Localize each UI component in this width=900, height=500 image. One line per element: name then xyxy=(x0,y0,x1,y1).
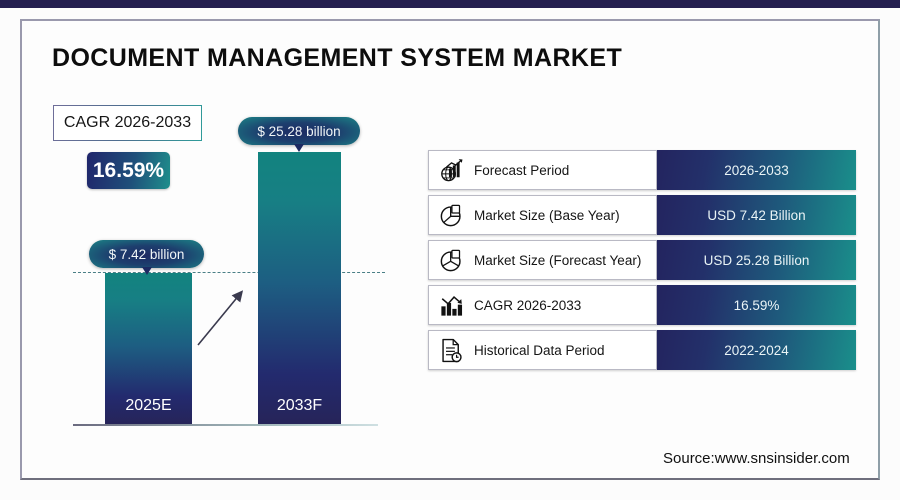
source-attribution: Source:www.snsinsider.com xyxy=(663,450,850,467)
table-row-value-cell: 2022-2024 xyxy=(657,330,856,370)
table-row-label-cell: Forecast Period xyxy=(428,150,657,190)
table-row-value-cell: USD 7.42 Billion xyxy=(657,195,856,235)
table-row[interactable]: Historical Data Period 2022-2024 xyxy=(428,330,856,370)
pill-pointer-icon xyxy=(294,144,304,152)
table-row-value-cell: 16.59% xyxy=(657,285,856,325)
pie-chart-icon xyxy=(438,247,465,274)
table-row[interactable]: Market Size (Forecast Year) USD 25.28 Bi… xyxy=(428,240,856,280)
table-row[interactable]: Market Size (Base Year) USD 7.42 Billion xyxy=(428,195,856,235)
document-clock-icon xyxy=(438,337,465,364)
table-row-value-cell: 2026-2033 xyxy=(657,150,856,190)
table-row-label: Forecast Period xyxy=(474,163,569,178)
market-summary-table: Forecast Period 2026-2033 Market Size (B… xyxy=(428,150,856,375)
bar-2025e[interactable]: 2025E xyxy=(105,273,192,424)
value-pill-text: $ 25.28 billion xyxy=(257,124,340,139)
table-row-value: 2022-2024 xyxy=(724,343,789,358)
table-row-label-cell: Market Size (Forecast Year) xyxy=(428,240,657,280)
growth-arrow-icon xyxy=(190,282,260,352)
pill-pointer-icon xyxy=(142,267,152,275)
bar-chart: 2025E 2033F $ 7.42 billion $ 25.28 billi… xyxy=(0,0,420,500)
table-row-label-cell: CAGR 2026-2033 xyxy=(428,285,657,325)
bar-category-label: 2033F xyxy=(258,397,341,415)
table-row-label-cell: Historical Data Period xyxy=(428,330,657,370)
value-pill-2025e: $ 7.42 billion xyxy=(89,240,204,268)
table-row-label: CAGR 2026-2033 xyxy=(474,298,581,313)
table-row-value: 2026-2033 xyxy=(724,163,789,178)
table-row-value-cell: USD 25.28 Billion xyxy=(657,240,856,280)
table-row[interactable]: Forecast Period 2026-2033 xyxy=(428,150,856,190)
table-row-value: 16.59% xyxy=(734,298,780,313)
table-row-value: USD 7.42 Billion xyxy=(707,208,805,223)
table-row-value: USD 25.28 Billion xyxy=(704,253,810,268)
bar-fill xyxy=(258,152,341,424)
chart-axis-baseline xyxy=(73,424,378,426)
bar-chart-icon xyxy=(438,292,465,319)
bar-category-label: 2025E xyxy=(105,397,192,415)
value-pill-2033f: $ 25.28 billion xyxy=(238,117,360,145)
pie-chart-icon xyxy=(438,202,465,229)
table-row[interactable]: CAGR 2026-2033 16.59% xyxy=(428,285,856,325)
table-row-label: Market Size (Forecast Year) xyxy=(474,253,641,268)
globe-growth-icon xyxy=(438,157,465,184)
bar-2033f[interactable]: 2033F xyxy=(258,152,341,424)
table-row-label-cell: Market Size (Base Year) xyxy=(428,195,657,235)
table-row-label: Historical Data Period xyxy=(474,343,605,358)
infographic-root: DOCUMENT MANAGEMENT SYSTEM MARKET CAGR 2… xyxy=(0,0,900,500)
table-row-label: Market Size (Base Year) xyxy=(474,208,620,223)
value-pill-text: $ 7.42 billion xyxy=(109,247,185,262)
